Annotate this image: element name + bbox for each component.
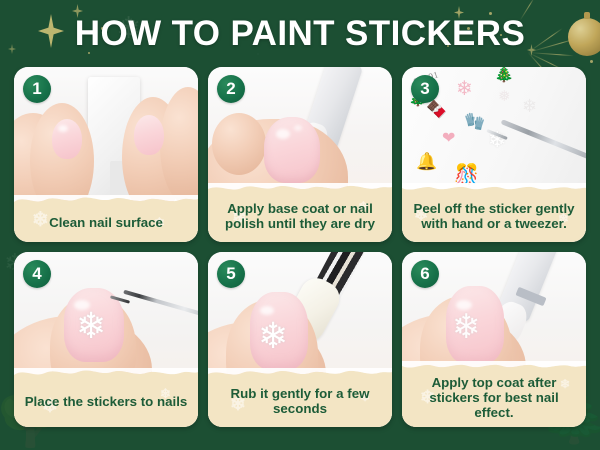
sparkle-dot [590,60,593,63]
wave-edge [14,366,198,380]
wave-edge [402,359,586,373]
step-number-badge: 5 [217,260,245,288]
caption-text: Apply base coat or nail polish until the… [214,201,386,231]
wave-edge [208,366,392,380]
snowflake-icon: ❄ [452,310,481,344]
snowflake-icon: ❄ [32,210,49,230]
step-2-caption: ❄ ❄ Apply base coat or nail polish until… [208,181,392,242]
fingernail [264,117,320,183]
wave-edge [14,193,198,207]
step-4-caption: ❄ ❄ Place the stickers to nails [14,366,198,427]
caption-band: ❄ ❄ Apply base coat or nail polish until… [208,194,392,242]
step-number-badge: 6 [411,260,439,288]
step-card-1[interactable]: 1 ❄ ❄ Clean nail surface [14,67,198,242]
mitten-icon: 🧤 [464,113,485,130]
step-card-3[interactable]: SD-91 ❄ 🍫 🎄 ❅ ❄ 🧤 ❤ 🔔 🎊 ❄ 🎄 3 [402,67,586,242]
step-number-badge: 2 [217,75,245,103]
tree-icon: 🎄 [494,67,514,83]
nail-highlight [276,129,290,139]
caption-band: ❄ ❄ Clean nail surface [14,206,198,242]
snowflake-icon: ❄ [522,97,537,115]
caption-text: Peel off the sticker gently with hand or… [408,201,580,231]
step-5-caption: ❄ ❄ Rub it gently for a few seconds [208,366,392,427]
caption-text: Rub it gently for a few seconds [214,386,386,416]
snowflake-icon: ❄ [76,308,106,344]
caption-band: ❄ ❄ Apply top coat after stickers for be… [402,372,586,427]
candy-cane-icon: 🍫 [426,101,447,118]
step-card-2[interactable]: 2 ❄ ❄ Apply base coat or nail polish unt… [208,67,392,242]
step-card-5[interactable]: ❄ 5 ❄ ❄ Rub it gently for a few seconds [208,252,392,427]
steps-grid: 1 ❄ ❄ Clean nail surface [14,67,586,427]
caption-band: ❄ ❄ Rub it gently for a few seconds [208,379,392,427]
caption-band: ❄ ❄ Peel off the sticker gently with han… [402,194,586,242]
step-number-badge: 3 [411,75,439,103]
wave-edge [208,181,392,195]
step-6-caption: ❄ ❄ Apply top coat after stickers for be… [402,359,586,427]
fingernail [52,119,82,159]
poster-root: ❄ ❄ 🌳 🌲 ❄ HOW TO PAINT STICKERS 1 [0,0,600,450]
caption-band: ❄ ❄ Place the stickers to nails [14,379,198,427]
bell-icon: 🔔 [416,153,437,170]
step-3-caption: ❄ ❄ Peel off the sticker gently with han… [402,181,586,242]
snowflake-icon: ❄ [258,318,288,354]
caption-text: Place the stickers to nails [25,394,188,409]
step-card-4[interactable]: ❄ 4 ❄ ❄ Place the stickers to nails [14,252,198,427]
caption-text: Apply top coat after stickers for best n… [408,375,580,420]
knuckle [212,113,266,175]
step-1-caption: ❄ ❄ Clean nail surface [14,193,198,242]
fingernail [134,115,164,155]
step-number-badge: 4 [23,260,51,288]
snowflake-icon: ❄ [456,79,473,99]
step-number-badge: 1 [23,75,51,103]
heart-icon: ❤ [442,131,455,147]
page-title: HOW TO PAINT STICKERS [0,14,600,54]
wave-edge [402,181,586,195]
caption-text: Clean nail surface [49,215,163,230]
nail-highlight [294,125,302,131]
step-card-6[interactable]: ❄ 6 ❄ ❄ Apply top coat after stickers fo… [402,252,586,427]
snowflake-icon: ❅ [498,89,511,104]
nail-highlight [260,306,274,315]
nail-highlight [58,125,68,132]
